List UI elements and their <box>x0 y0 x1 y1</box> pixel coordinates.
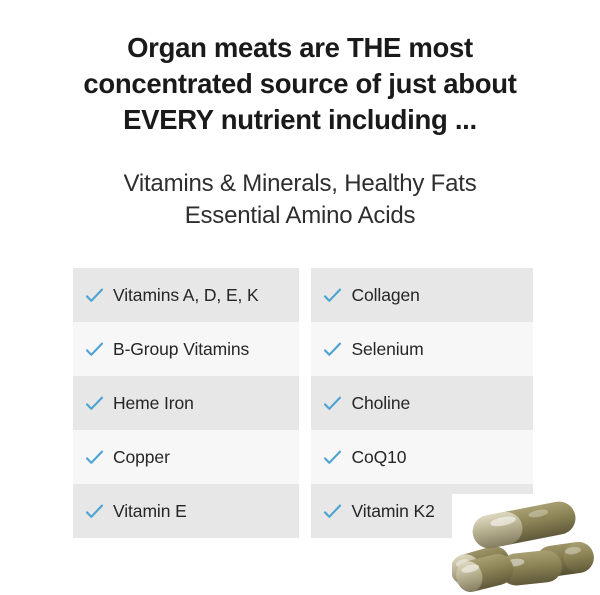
check-icon <box>323 394 342 413</box>
check-icon <box>323 340 342 359</box>
nutrient-item: Heme Iron <box>73 376 299 430</box>
nutrient-label: CoQ10 <box>351 447 406 468</box>
nutrient-label: Selenium <box>351 339 423 360</box>
page-title: Organ meats are THE most concentrated so… <box>50 30 550 137</box>
nutrient-item: Vitamin E <box>73 484 299 538</box>
nutrient-label: B-Group Vitamins <box>113 339 249 360</box>
nutrient-label: Heme Iron <box>113 393 194 414</box>
check-icon <box>323 502 342 521</box>
nutrient-label: Vitamin E <box>113 501 187 522</box>
subheading: Vitamins & Minerals, Healthy Fats Essent… <box>50 168 550 231</box>
nutrient-item: Collagen <box>311 268 533 322</box>
column-divider <box>299 430 311 484</box>
headline-line-3: EVERY nutrient including ... <box>50 102 550 138</box>
check-icon <box>85 394 104 413</box>
supplement-capsules-photo <box>452 494 600 595</box>
table-row: Vitamins A, D, E, K Collagen <box>73 268 533 322</box>
column-divider <box>299 268 311 322</box>
nutrient-label: Vitamins A, D, E, K <box>113 285 259 306</box>
check-icon <box>323 448 342 467</box>
headline-line-2: concentrated source of just about <box>50 66 550 102</box>
check-icon <box>85 502 104 521</box>
nutrient-item: Selenium <box>311 322 533 376</box>
check-icon <box>85 286 104 305</box>
column-divider <box>299 376 311 430</box>
nutrient-item: Choline <box>311 376 533 430</box>
check-icon <box>323 286 342 305</box>
nutrient-item: B-Group Vitamins <box>73 322 299 376</box>
nutrient-label: Choline <box>351 393 410 414</box>
table-row: B-Group Vitamins Selenium <box>73 322 533 376</box>
table-row: Heme Iron Choline <box>73 376 533 430</box>
check-icon <box>85 448 104 467</box>
nutrient-label: Collagen <box>351 285 419 306</box>
table-row: Copper CoQ10 <box>73 430 533 484</box>
subheading-line-2: Essential Amino Acids <box>50 200 550 232</box>
column-divider <box>299 484 311 538</box>
nutrient-item: CoQ10 <box>311 430 533 484</box>
promotional-graphic: Organ meats are THE most concentrated so… <box>0 0 600 595</box>
subheading-line-1: Vitamins & Minerals, Healthy Fats <box>50 168 550 200</box>
nutrient-label: Copper <box>113 447 170 468</box>
check-icon <box>85 340 104 359</box>
nutrient-label: Vitamin K2 <box>351 501 434 522</box>
nutrient-item: Copper <box>73 430 299 484</box>
column-divider <box>299 322 311 376</box>
headline-line-1: Organ meats are THE most <box>50 30 550 66</box>
nutrient-item: Vitamins A, D, E, K <box>73 268 299 322</box>
